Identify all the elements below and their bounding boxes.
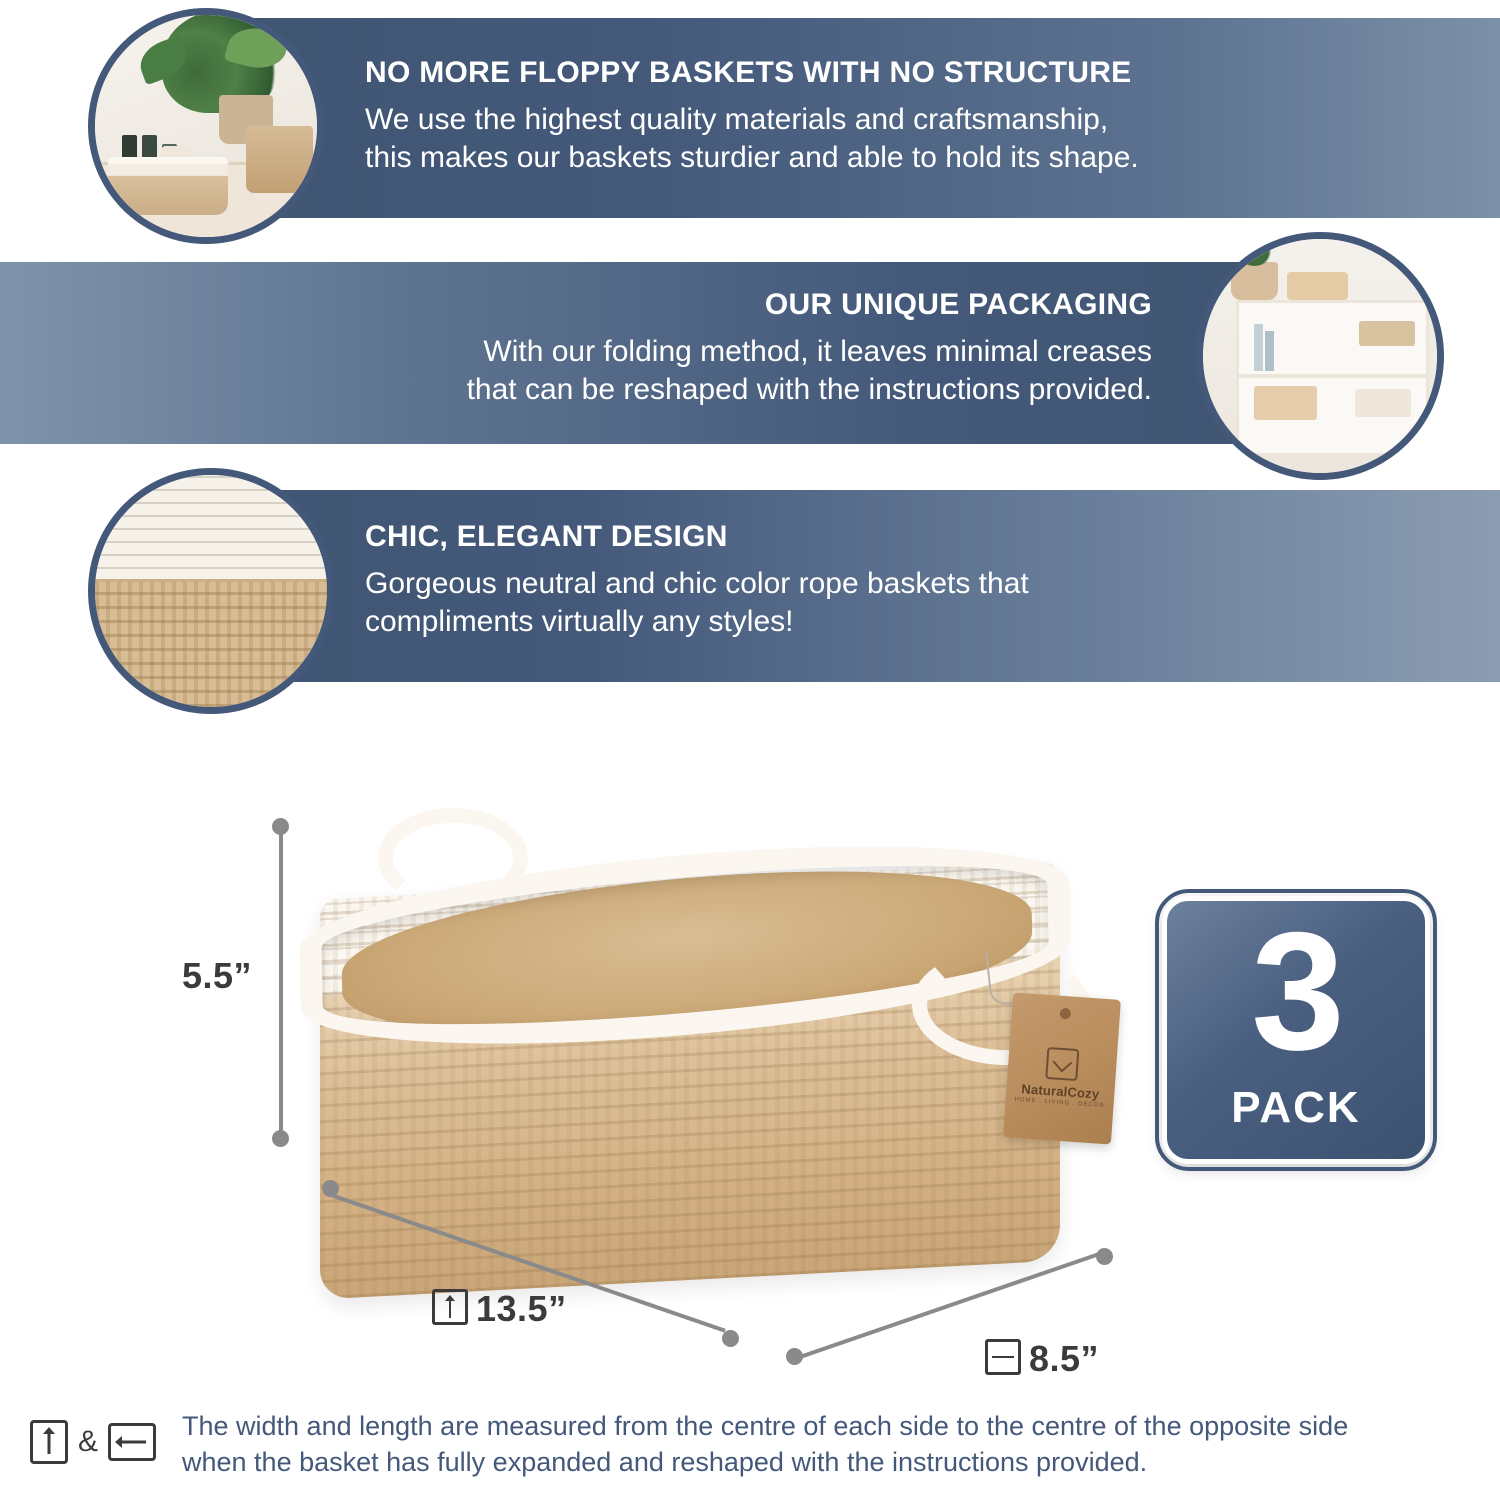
feature-banner-2-text: OUR UNIQUE PACKAGING With our folding me… (102, 288, 1152, 410)
dimension-height-label: 5.5” (182, 955, 252, 997)
measurement-footnote: & The width and length are measured from… (0, 1400, 1500, 1486)
feature-banner-no-floppy-baskets: NO MORE FLOPPY BASKETS WITH NO STRUCTURE… (180, 18, 1500, 218)
width-arrow-icon (985, 1339, 1021, 1375)
footnote-separator: & (78, 1425, 98, 1459)
feature-banner-unique-packaging: OUR UNIQUE PACKAGING With our folding me… (0, 262, 1320, 444)
feature-3-title: CHIC, ELEGANT DESIGN (365, 520, 1445, 553)
pack-count-number: 3 (1167, 907, 1425, 1075)
feature-1-body: We use the highest quality materials and… (365, 101, 1465, 178)
feature-2-title: OUR UNIQUE PACKAGING (102, 288, 1152, 321)
feature-banner-1-text: NO MORE FLOPPY BASKETS WITH NO STRUCTURE… (365, 56, 1465, 178)
height-measure-line (279, 826, 283, 1138)
depth-measure-dot-right (1096, 1248, 1113, 1265)
width-arrow-icon (108, 1423, 156, 1461)
hang-tag: NaturalCozy HOME . LIVING . DECOR (1003, 992, 1121, 1144)
basket-handle-left (378, 808, 528, 908)
pack-count-word: PACK (1167, 1083, 1425, 1133)
length-measure-dot-bottom (722, 1330, 739, 1347)
dimension-length-value: 13.5” (476, 1288, 567, 1329)
feature-3-photo (88, 468, 334, 714)
bathroom-shelf-image (95, 15, 317, 237)
feature-2-body: With our folding method, it leaves minim… (102, 333, 1152, 410)
dimension-depth-label: 8.5” (985, 1338, 1099, 1380)
feature-1-photo (88, 8, 324, 244)
feature-2-photo (1196, 232, 1444, 480)
dimension-length-label: 13.5” (432, 1288, 567, 1330)
footnote-text: The width and length are measured from t… (182, 1408, 1472, 1481)
shelf-unit-image (1203, 239, 1437, 473)
height-arrow-icon (30, 1420, 68, 1464)
feature-banner-chic-elegant-design: CHIC, ELEGANT DESIGN Gorgeous neutral an… (180, 490, 1500, 682)
product-dimension-diagram: 5.5” NaturalCozy HOME . LIVING . DECOR 1… (0, 700, 1500, 1400)
footnote-icon-group: & (30, 1414, 165, 1470)
pack-count-badge: 3 PACK (1162, 896, 1430, 1164)
feature-banner-3-text: CHIC, ELEGANT DESIGN Gorgeous neutral an… (365, 520, 1445, 642)
feature-1-title: NO MORE FLOPPY BASKETS WITH NO STRUCTURE (365, 56, 1465, 89)
height-measure-dot-bottom (272, 1130, 289, 1147)
feature-3-body: Gorgeous neutral and chic color rope bas… (365, 565, 1445, 642)
brand-logo-icon (1045, 1047, 1079, 1081)
dimension-depth-value: 8.5” (1029, 1338, 1099, 1379)
height-arrow-icon (432, 1289, 468, 1325)
rope-texture-image (95, 475, 327, 707)
